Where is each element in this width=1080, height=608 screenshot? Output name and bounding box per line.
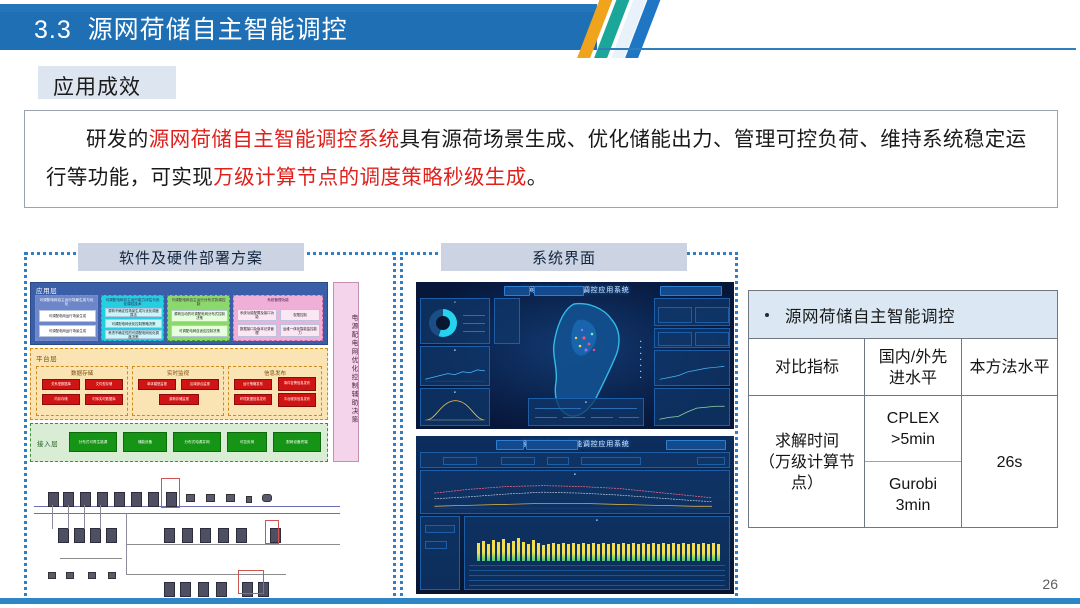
platform-group-monitor: 实时监视 单体模型监视 区域综合监视 源荷存储监视 <box>132 366 224 416</box>
topology-rack <box>48 492 59 507</box>
app-cell-2-item-3: 考虑不确定性的可调配电网优化调度决策 <box>105 330 162 339</box>
platform-group-storage: 数据存储 关系型数据库 文件型存储 内存存储 时序实时数据库 <box>36 366 128 416</box>
kpi-card-4 <box>695 332 729 346</box>
bar <box>482 541 485 561</box>
side-select[interactable] <box>425 525 455 533</box>
app-cell-1: 可调配电网自主运行场景生成与优化 可调配电网运行场景生成 可调配电网运行场景生成 <box>35 295 98 341</box>
topology-link <box>126 513 127 575</box>
bar <box>612 543 615 561</box>
dashboard2-nav-pill-3[interactable] <box>666 440 726 450</box>
baseline-gurobi-value: 3min <box>896 495 931 516</box>
kpi-card-3 <box>658 332 692 346</box>
bar <box>717 544 720 561</box>
bar <box>597 544 600 561</box>
topology-rack <box>164 582 175 597</box>
filter-select-1[interactable] <box>443 457 477 465</box>
filter-input[interactable] <box>581 457 641 465</box>
storage-item-4: 时序实时数据库 <box>85 394 123 405</box>
topology-highlight-frame <box>161 478 180 508</box>
bar <box>517 538 520 561</box>
publish-item-1: 运行策略发布 <box>234 379 272 390</box>
dashboard1-status-table: ■ <box>528 398 644 426</box>
app-cell-2-item-2: 可调配电网优化控制策略决策 <box>105 319 162 328</box>
status-row-line <box>563 417 585 418</box>
baseline-gurobi-name: Gurobi <box>889 474 937 495</box>
bar <box>702 543 705 561</box>
left-panel-label: 软件及硬件部署方案 <box>78 243 304 271</box>
bar <box>687 544 690 561</box>
bar <box>602 543 605 561</box>
filter-button-1[interactable] <box>547 457 569 465</box>
bar <box>662 543 665 561</box>
app-cell-1-title: 可调配电网自主运行场景生成与优化 <box>38 298 95 307</box>
dashboard1-kpi-side-card <box>494 298 520 344</box>
map-legend-panel: ■ ■ ■ ■ ■ ■ ■ <box>640 340 654 388</box>
topology-workstation <box>206 494 215 502</box>
kpi-card-1 <box>658 307 692 323</box>
app-cell-4-item-1: 系统功能配置及接口功能 <box>237 309 277 321</box>
status-row-line <box>619 417 639 418</box>
platform-group-monitor-title: 实时监视 <box>133 369 223 377</box>
topology-device <box>88 572 96 579</box>
line-chart-icon <box>423 355 489 383</box>
dashboard1-area-chart-header: ■ <box>421 390 489 394</box>
bullet-icon <box>765 313 769 317</box>
topology-workstation <box>186 494 195 502</box>
dashboard2-side-panel <box>420 516 460 590</box>
architecture-side-banner-label: 电源配电网优化控制辅助决策 <box>334 299 358 439</box>
table-cell-ours-value: 26s <box>962 396 1057 528</box>
baseline-cplex-value: >5min <box>891 429 935 450</box>
dashboard2-nav-pill-1[interactable] <box>496 440 524 450</box>
app-cell-4-item-3: 数据接口及版本记录管理 <box>237 324 277 337</box>
bar <box>577 544 580 561</box>
topology-link <box>52 505 53 529</box>
platform-group-publish-title: 信息发布 <box>229 369 321 377</box>
bar <box>492 540 495 561</box>
slide-header: 3.3 源网荷储自主智能调控 <box>0 0 1080 58</box>
header-rule <box>598 48 1076 50</box>
comparison-table: 源网荷储自主智能调控 对比指标 国内/外先进水平 本方法水平 求解时间 （万级计… <box>748 290 1058 528</box>
topology-bus-secondary <box>34 513 340 514</box>
bar <box>557 544 560 561</box>
topology-printer <box>246 496 252 503</box>
paragraph-highlight-1: 源网荷储自主智能调控系统 <box>149 128 400 151</box>
stacked-bar-chart <box>477 537 721 561</box>
dashboard2-data-table <box>469 565 725 589</box>
topology-rack <box>198 582 209 597</box>
bar <box>647 544 650 561</box>
topology-device <box>48 572 56 579</box>
access-item-1: 分布式可再生能源 <box>69 432 117 452</box>
topology-bus-5 <box>60 558 122 559</box>
topology-rack <box>114 492 125 507</box>
bar <box>582 543 585 561</box>
bar <box>682 543 685 561</box>
topology-link <box>68 505 69 529</box>
paragraph-text: 研发的源网荷储自主智能调控系统具有源荷场景生成、优化储能出力、管理可控负荷、维持… <box>46 121 1046 197</box>
dashboard1-trend-card-2 <box>654 388 730 426</box>
app-cell-3-item-1: 源荷互动的可调配电网分布式控制决策 <box>171 310 228 322</box>
bar <box>622 543 625 561</box>
donut-hole <box>436 316 450 330</box>
status-row-line <box>535 408 581 409</box>
table-cell-gurobi: Gurobi 3min <box>865 462 961 528</box>
topology-rack <box>131 492 142 507</box>
topology-rack <box>180 582 191 597</box>
dashboard1-kpi-cards <box>654 298 730 326</box>
topology-rack <box>90 528 101 543</box>
topology-rack <box>236 528 247 543</box>
status-row-line <box>535 417 557 418</box>
topology-rack <box>216 582 227 597</box>
topology-rack <box>218 528 229 543</box>
dashboard1-donut-card-header: ● <box>421 300 489 304</box>
monitor-item-3: 源荷存储监视 <box>159 394 199 405</box>
bar <box>642 543 645 561</box>
table-header-ours: 本方法水平 <box>962 340 1057 395</box>
bar <box>522 542 525 561</box>
comparison-table-heading: 源网荷储自主智能调控 <box>785 303 955 327</box>
bar <box>712 543 715 561</box>
app-cell-3-title: 可调配电网自主运行分布式协调控制 <box>170 298 227 307</box>
layer-access-label: 接入层 <box>37 438 58 448</box>
bar <box>562 543 565 561</box>
topology-cloud <box>262 494 272 502</box>
dashboard-screenshot-overview[interactable]: 源网荷储自主智能调控应用系统 ● ■ ■ <box>416 282 734 429</box>
platform-group-storage-title: 数据存储 <box>37 369 127 377</box>
bar <box>477 543 480 561</box>
topology-rack <box>58 528 69 543</box>
bar <box>677 544 680 561</box>
right-panel-label: 系统界面 <box>441 243 687 271</box>
app-cell-4: 系统管理功能 系统功能配置及接口功能 权限控制 数据接口及版本记录管理 运维一体… <box>233 295 323 341</box>
bar <box>592 543 595 561</box>
bar <box>667 544 670 561</box>
app-cell-4-item-2: 权限控制 <box>280 309 320 321</box>
network-topology-diagram <box>30 466 382 590</box>
bar <box>512 541 515 561</box>
filter-action-button[interactable] <box>697 457 725 465</box>
bar <box>707 544 710 561</box>
storage-item-2: 文件型存储 <box>85 379 123 390</box>
topology-highlight-frame <box>265 520 279 544</box>
bar <box>652 543 655 561</box>
dashboard1-legend-line <box>463 323 485 324</box>
access-item-3: 分布式电源并网 <box>173 432 221 452</box>
app-cell-3: 可调配电网自主运行分布式协调控制 源荷互动的可调配电网分布式控制决策 可调配电网… <box>167 295 230 341</box>
topology-link <box>100 505 101 529</box>
baseline-cplex-name: CPLEX <box>887 408 939 429</box>
bar <box>672 543 675 561</box>
comparison-table-heading-row: 源网荷储自主智能调控 <box>749 291 1057 339</box>
bar <box>497 542 500 561</box>
table-header-baseline: 国内/外先进水平 <box>865 340 961 395</box>
bar <box>542 545 545 561</box>
layer-application-label: 应用层 <box>36 285 57 295</box>
bar <box>587 544 590 561</box>
topology-bus-3 <box>126 544 340 545</box>
table-cell-cplex: CPLEX >5min <box>865 396 961 461</box>
access-item-5: 配网设备终端 <box>273 432 321 452</box>
bar <box>637 544 640 561</box>
app-cell-2-title: 可调配电网自主运行能力评估与优化调控技术 <box>104 298 161 307</box>
dashboard1-legend-line <box>463 315 485 316</box>
layer-platform-label: 平台层 <box>36 353 57 363</box>
app-cell-4-item-4: 运维一体化智能监控能力 <box>280 324 320 337</box>
dashboard1-donut-card: ● <box>420 298 490 344</box>
page-number: 26 <box>1042 576 1058 592</box>
dashboard-screenshot-analysis[interactable]: 源网荷储自主智能调控应用系统 ■ ■ <box>416 436 734 594</box>
dashboard1-nav-pill-3[interactable] <box>660 286 722 296</box>
dashboard1-legend-line <box>463 331 485 332</box>
topology-link <box>84 505 85 529</box>
app-cell-2-item-1: 源荷不确定性场景生成与优化调度算法 <box>105 308 162 317</box>
topology-rack <box>97 492 108 507</box>
dashboard2-chart-header: ■ <box>421 472 729 476</box>
filter-select-2[interactable] <box>501 457 535 465</box>
multi-line-chart-icon <box>425 480 727 510</box>
kpi-card-2 <box>695 307 729 323</box>
dashboard2-multi-line-chart: ■ <box>420 470 730 514</box>
publish-item-4: 平台服务信息发布 <box>278 393 316 407</box>
bar <box>552 543 555 561</box>
topology-rack <box>80 492 91 507</box>
bar <box>607 544 610 561</box>
app-cell-1-item-1: 可调配电网运行场景生成 <box>39 310 96 322</box>
dashboard1-nav-pill-1[interactable] <box>504 286 530 296</box>
trend-line-icon <box>657 359 729 383</box>
topology-rack <box>182 528 193 543</box>
area-chart-icon <box>423 396 489 422</box>
bar <box>697 544 700 561</box>
publish-item-2: 事件告警信息发布 <box>278 377 316 391</box>
status-row-line <box>591 408 637 409</box>
bar <box>657 544 660 561</box>
topology-device <box>66 572 74 579</box>
bar <box>632 543 635 561</box>
table-cell-metric-line2: （万级计算节点） <box>750 452 864 494</box>
bar <box>507 543 510 561</box>
paragraph-seg1: 研发的 <box>86 128 149 151</box>
footer-bar <box>0 598 1080 604</box>
storage-item-3: 内存存储 <box>42 394 80 405</box>
dashboard1-kpi-cards-2 <box>654 328 730 348</box>
monitor-item-2: 区域综合监视 <box>181 379 219 390</box>
dashboard1-status-table-header: ■ <box>529 400 643 404</box>
bar <box>692 543 695 561</box>
bar <box>617 544 620 561</box>
dashboard2-nav-pill-2[interactable] <box>526 440 578 450</box>
dashboard1-line-chart-card: ■ <box>420 346 490 386</box>
topology-rack <box>106 528 117 543</box>
dashboard1-nav-pill-2[interactable] <box>534 286 584 296</box>
bar <box>627 544 630 561</box>
table-cell-metric-line1: 求解时间 <box>775 431 839 452</box>
topology-rack <box>148 492 159 507</box>
monitor-item-1: 单体模型监视 <box>138 379 176 390</box>
bar <box>537 543 540 561</box>
table-header-metric: 对比指标 <box>750 340 864 395</box>
trend-line-icon-2 <box>657 397 729 423</box>
topology-device <box>108 572 116 579</box>
bar <box>567 544 570 561</box>
header-stripe-decoration <box>585 0 665 54</box>
publish-item-3: 环境数据信息发布 <box>234 394 272 405</box>
architecture-diagram: 应用层 可调配电网自主运行场景生成与优化 可调配电网运行场景生成 可调配电网运行… <box>30 282 382 462</box>
topology-rack <box>200 528 211 543</box>
architecture-side-banner: 电源配电网优化控制辅助决策 <box>333 282 359 462</box>
app-cell-4-title: 系统管理功能 <box>236 298 320 302</box>
access-item-4: 可控负荷 <box>227 432 267 452</box>
dashboard2-filter-bar[interactable] <box>420 452 730 468</box>
dashboard2-bar-chart-header: ■ <box>465 518 729 522</box>
bar <box>502 539 505 561</box>
app-cell-3-item-2: 可调配电网自适应控制决策 <box>171 325 228 337</box>
bar <box>487 544 490 561</box>
section-title: 源网荷储自主智能调控 <box>88 16 348 44</box>
dashboard1-line-chart-header: ■ <box>421 348 489 352</box>
dashboard1-trend-card <box>654 350 730 386</box>
bar <box>572 543 575 561</box>
bar <box>527 544 530 561</box>
access-item-2: 储能设备 <box>123 432 167 452</box>
subtitle-label: 应用成效 <box>53 71 141 101</box>
storage-item-1: 关系型数据库 <box>42 379 80 390</box>
dashboard1-area-chart-card: ■ <box>420 388 490 426</box>
platform-group-publish: 信息发布 运行策略发布 事件告警信息发布 环境数据信息发布 平台服务信息发布 <box>228 366 322 416</box>
bar <box>547 544 550 561</box>
dashboard2-bar-chart-card: ■ <box>464 516 730 590</box>
bar <box>532 540 535 561</box>
page-title: 3.3 源网荷储自主智能调控 <box>34 10 348 46</box>
topology-rack <box>164 528 175 543</box>
app-cell-1-item-2: 可调配电网运行场景生成 <box>39 325 96 337</box>
app-cell-2: 可调配电网自主运行能力评估与优化调控技术 源荷不确定性场景生成与优化调度算法 可… <box>101 295 164 341</box>
architecture-layers: 应用层 可调配电网自主运行场景生成与优化 可调配电网运行场景生成 可调配电网运行… <box>30 282 328 462</box>
side-button[interactable] <box>425 541 447 549</box>
topology-highlight-frame <box>238 570 264 594</box>
table-cell-metric: 求解时间 （万级计算节点） <box>750 396 864 528</box>
section-number: 3.3 <box>34 16 72 44</box>
paragraph-seg5: 。 <box>527 166 548 189</box>
paragraph-highlight-2: 万级计算节点的调度策略秒级生成 <box>213 166 527 189</box>
topology-workstation <box>226 494 235 502</box>
topology-rack <box>74 528 85 543</box>
status-row-line <box>591 417 613 418</box>
